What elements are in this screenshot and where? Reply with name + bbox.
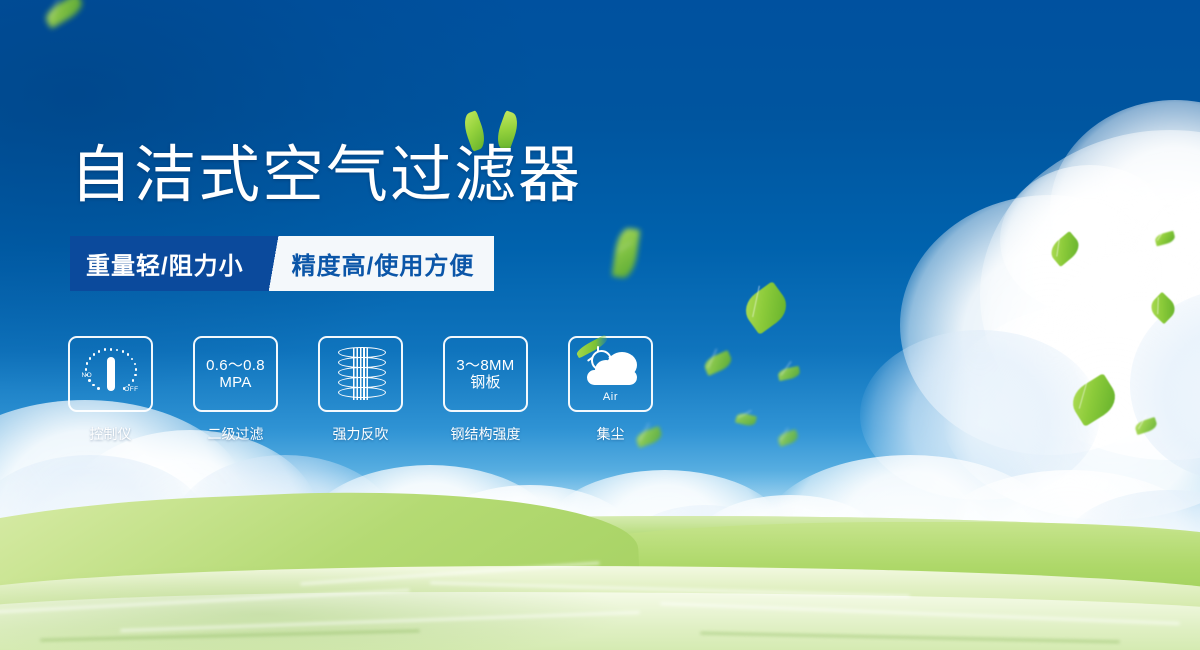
feature-item-strong-blowback[interactable]: 强力反吹 (320, 336, 401, 444)
cloud-shape (581, 346, 641, 390)
sun-icon (591, 350, 612, 371)
feature-list: NO OFF 控制仪 0.6～0.8 MPA 二级过滤 (70, 336, 651, 444)
feature-item-dust-collection[interactable]: Air 集尘 (570, 336, 651, 444)
filter-coil-icon (318, 336, 403, 412)
control-gauge-icon: NO OFF (68, 336, 153, 412)
subtitle-badge-right: 精度高/使用方便 (288, 236, 495, 291)
coil-shape (338, 346, 384, 402)
page-title: 自洁式空气过滤器 (70, 145, 582, 207)
feature-label: 二级过滤 (208, 424, 264, 444)
pressure-text-icon: 0.6～0.8 MPA (193, 336, 278, 412)
gauge-dial: NO OFF (82, 348, 140, 400)
feature-item-control-gauge[interactable]: NO OFF 控制仪 (70, 336, 151, 444)
air-cloud-icon: Air (568, 336, 653, 412)
subtitle-badge-left: 重量轻/阻力小 (70, 236, 262, 291)
gauge-label-no: NO (82, 372, 93, 379)
steel-plate-text: 钢板 (470, 374, 501, 392)
air-label: Air (603, 391, 618, 403)
steel-plate-text-icon: 3～8MM 钢板 (443, 336, 528, 412)
feature-item-steel-strength[interactable]: 3～8MM 钢板 钢结构强度 (445, 336, 526, 444)
subtitle-bar: 重量轻/阻力小 精度高/使用方便 (70, 236, 494, 291)
steel-thickness-text: 3～8MM (456, 357, 514, 374)
gauge-label-off: OFF (124, 386, 138, 393)
gauge-needle (107, 357, 115, 391)
feature-label: 控制仪 (90, 424, 132, 444)
pressure-range-text: 0.6～0.8 (206, 357, 265, 374)
feature-label: 强力反吹 (333, 424, 389, 444)
cloud-base (587, 370, 637, 385)
promo-banner: 自洁式空气过滤器 重量轻/阻力小 精度高/使用方便 (0, 0, 1200, 650)
feature-label: 钢结构强度 (451, 424, 521, 444)
subtitle-wedge-divider (262, 236, 288, 291)
feature-item-two-stage-filter[interactable]: 0.6～0.8 MPA 二级过滤 (195, 336, 276, 444)
pressure-unit-text: MPA (219, 374, 251, 392)
feature-label: 集尘 (597, 424, 625, 444)
